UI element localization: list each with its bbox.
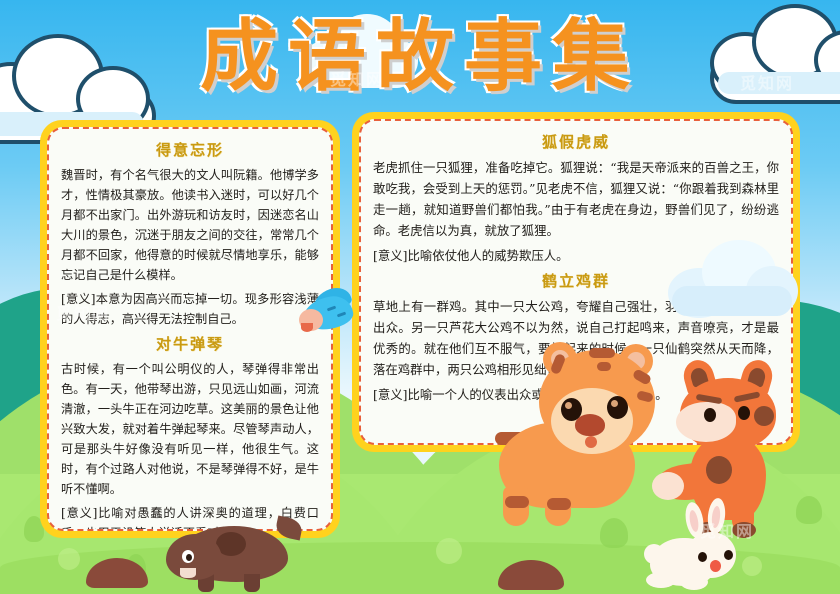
story-body-deyiwangxing: 魏晋时，有个名气很大的文人叫阮籍。他博学多才，性情极其豪放。他读书入迷时，可以好… <box>61 165 319 285</box>
left-story-panel: 得意忘形 魏晋时，有个名气很大的文人叫阮籍。他博学多才，性情极其豪放。他读书入迷… <box>40 120 340 538</box>
story-title-hujiahuwei: 狐假虎威 <box>373 131 779 152</box>
left-story-panel-inner: 得意忘形 魏晋时，有个名气很大的文人叫阮籍。他博学多才，性情极其豪放。他读书入迷… <box>47 127 333 531</box>
story-title-deyiwangxing: 得意忘形 <box>61 139 319 160</box>
story-body-hujiahuwei: 老虎抓住一只狐狸，准备吃掉它。狐狸说：“我是天帝派来的百兽之王，你敢吃我，会受到… <box>373 157 779 241</box>
cloud-top-center <box>300 14 420 90</box>
poster-canvas: 成语故事集 得意忘形 魏晋时，有个名气很大的文人叫阮籍。他博学多才，性情极其豪放… <box>0 0 840 594</box>
story-title-duiniutanqin: 对牛弹琴 <box>61 333 319 354</box>
story-body-duiniutanqin: 古时候，有一个叫公明仪的人，琴弹得非常出色。有一天，他带琴出游，只见远山如画，河… <box>61 359 319 499</box>
grass-highlight <box>436 538 462 564</box>
cloud-mid-right <box>668 240 800 318</box>
grass-highlight <box>58 548 80 570</box>
grass-blade <box>796 496 822 524</box>
cow-illustration <box>168 510 308 590</box>
tiger-illustration <box>497 336 677 526</box>
story-meaning-deyiwangxing: [意义]本意为因高兴而忘掉一切。现多形容浅薄的人得志，高兴得无法控制自己。 <box>61 289 319 329</box>
cloud-top-right <box>710 4 840 110</box>
rabbit-illustration <box>640 508 758 594</box>
bird-illustration <box>297 287 361 343</box>
